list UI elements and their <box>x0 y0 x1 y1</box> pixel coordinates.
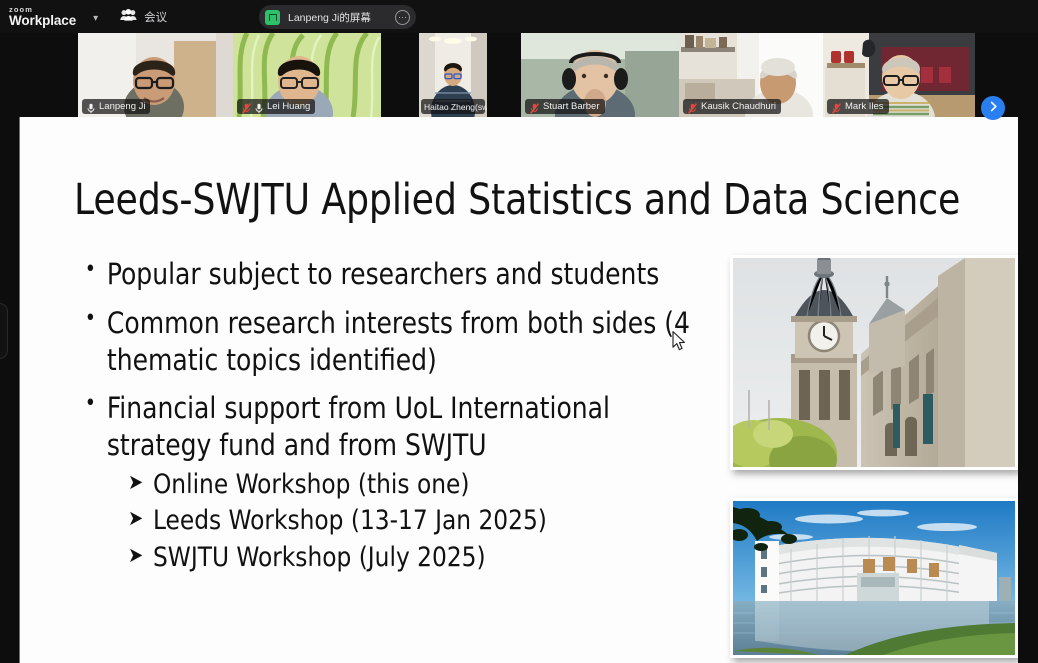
microphone-muted-icon <box>832 101 841 112</box>
video-tile-haitao-zheng[interactable]: Haitao Zheng(swjtu) <box>419 33 487 117</box>
participant-name: Lei Huang <box>267 101 310 112</box>
arrow-bullet-icon: ➤ <box>128 505 143 532</box>
sidebar-drag-handle[interactable] <box>0 303 8 359</box>
sub-bullet-item: ➤ Online Workshop (this one) <box>128 468 696 502</box>
bullet-glyph: • <box>85 305 96 333</box>
video-tile-lei-huang[interactable]: Lei Huang <box>233 33 381 117</box>
screen-share-banner[interactable]: Lanpeng Ji的屏幕 ··· <box>259 5 416 29</box>
participant-name-badge: Kausik Chaudhuri <box>683 99 781 114</box>
bullet-item: • Financial support from UoL Internation… <box>80 390 694 464</box>
sub-bullet-item: ➤ Leeds Workshop (13-17 Jan 2025) <box>128 504 696 538</box>
mouse-pointer-icon <box>672 331 686 356</box>
bullet-text: Financial support from UoL International… <box>107 391 610 462</box>
participant-name-badge: Lei Huang <box>237 99 315 114</box>
participant-name: Lanpeng Ji <box>99 101 145 112</box>
sub-bullet-text: Leeds Workshop (13-17 Jan 2025) <box>153 505 547 536</box>
screen-share-icon <box>265 10 280 25</box>
bullet-item: • Popular subject to researchers and stu… <box>80 256 694 293</box>
brand-workplace-text: Workplace <box>9 14 76 28</box>
bullet-text: Common research interests from both side… <box>107 306 690 377</box>
sub-bullet-text: SWJTU Workshop (July 2025) <box>153 542 486 573</box>
microphone-muted-icon <box>688 101 697 112</box>
microphone-muted-icon <box>242 101 251 112</box>
participant-filmstrip: Lanpeng Ji <box>0 33 1038 117</box>
arrow-bullet-icon: ➤ <box>128 469 143 496</box>
slide-title: Leeds-SWJTU Applied Statistics and Data … <box>74 175 939 225</box>
microphone-muted-icon <box>530 101 539 112</box>
sub-bullet-list: ➤ Online Workshop (this one) ➤ Leeds Wor… <box>128 468 720 575</box>
brand-zoom-text: zoom <box>9 6 76 14</box>
more-options-icon[interactable]: ··· <box>395 10 410 25</box>
video-tile-lanpeng-ji[interactable]: Lanpeng Ji <box>78 33 233 117</box>
chevron-down-icon[interactable]: ▾ <box>93 14 98 24</box>
participant-name: Stuart Barber <box>543 101 600 112</box>
next-page-button[interactable] <box>981 96 1005 120</box>
participant-name-badge: Stuart Barber <box>525 99 605 114</box>
meetings-label: 会议 <box>144 9 167 25</box>
sub-bullet-text: Online Workshop (this one) <box>153 469 469 500</box>
microphone-icon <box>255 101 263 112</box>
participant-name-badge: Lanpeng Ji <box>82 99 150 114</box>
meetings-nav-item[interactable]: 会议 <box>120 8 167 26</box>
people-icon <box>120 8 137 26</box>
zoom-workplace-logo[interactable]: zoom Workplace <box>9 6 76 28</box>
arrow-bullet-icon: ➤ <box>128 542 143 569</box>
screen-share-title: Lanpeng Ji的屏幕 <box>288 10 395 25</box>
bullet-glyph: • <box>85 256 96 284</box>
video-tile-mark-iles[interactable]: Mark Iles <box>823 33 975 117</box>
participant-name-badge: Haitao Zheng(swjtu) <box>421 99 485 114</box>
participant-name: Kausik Chaudhuri <box>701 101 776 112</box>
sub-bullet-item: ➤ SWJTU Workshop (July 2025) <box>128 541 696 575</box>
participant-name: Haitao Zheng(swjtu) <box>424 102 487 112</box>
chevron-right-icon <box>988 99 999 117</box>
microphone-icon <box>87 101 95 112</box>
bullet-item: • Common research interests from both si… <box>80 305 694 379</box>
slide-body: • Popular subject to researchers and stu… <box>80 256 720 577</box>
participant-name: Mark Iles <box>845 101 884 112</box>
bullet-glyph: • <box>85 390 96 418</box>
swjtu-campus-photo <box>730 498 1018 658</box>
zoom-meeting-window: zoom Workplace ▾ 会议 Lanpeng Ji的屏幕 <box>0 0 1038 663</box>
shared-screen-slide: Leeds-SWJTU Applied Statistics and Data … <box>20 117 1018 663</box>
video-tile-stuart-barber[interactable]: Stuart Barber <box>521 33 679 117</box>
bullet-text: Popular subject to researchers and stude… <box>107 257 659 291</box>
top-bar: zoom Workplace ▾ 会议 Lanpeng Ji的屏幕 <box>0 0 1038 33</box>
video-tile-kausik-chaudhuri[interactable]: Kausik Chaudhuri <box>679 33 823 117</box>
leeds-town-hall-photo <box>730 255 1018 470</box>
participant-name-badge: Mark Iles <box>827 99 889 114</box>
